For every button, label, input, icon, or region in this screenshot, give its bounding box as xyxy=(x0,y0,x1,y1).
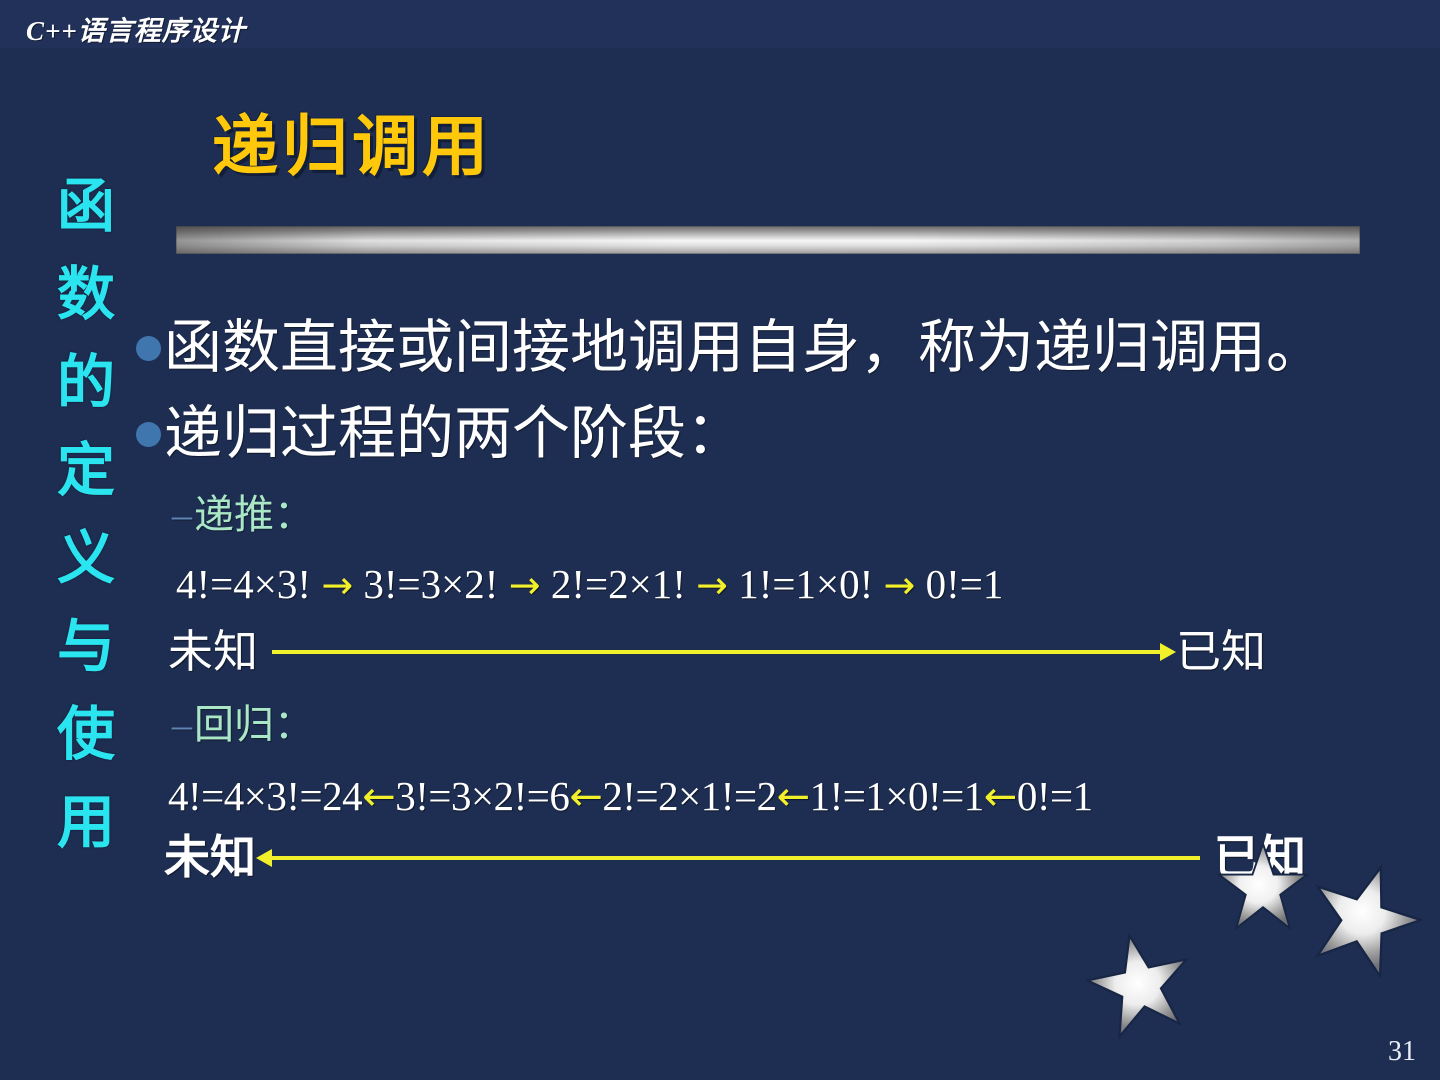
dash-icon: – xyxy=(172,492,192,537)
arrow-line-left-icon xyxy=(270,856,1200,860)
sub-bullet-recurse: –递推： xyxy=(172,492,314,538)
arrow-row-right-label: 已知 xyxy=(1176,626,1266,678)
sub-bullet-recurse-label: 递推： xyxy=(194,492,314,537)
arrow-row-right-label: 已知 xyxy=(1214,832,1306,884)
sidebar-char-7: 用 xyxy=(38,778,134,866)
arrow-row-left-label: 未知 xyxy=(164,832,256,884)
arrow-row-left-label: 未知 xyxy=(168,626,258,678)
formula-seg: 1!=1×0!=1 xyxy=(810,773,984,819)
arrow-left-icon: ← xyxy=(777,774,810,820)
arrow-left-icon: ← xyxy=(569,774,602,820)
arrow-left-icon: ← xyxy=(984,774,1017,820)
bullet-label-1: 函数直接或间接地调用自身，称为递归调用。 xyxy=(164,314,1324,382)
arrow-head-left-icon xyxy=(256,849,272,867)
formula-seg: 1!=1×0! xyxy=(738,561,873,607)
arrow-right-icon: → xyxy=(696,563,728,607)
formula-seg: 3!=3×2! xyxy=(363,561,498,607)
slide-title: 递归调用 xyxy=(212,108,492,186)
sidebar-char-6: 使 xyxy=(38,690,134,778)
arrow-right-icon: → xyxy=(321,563,353,607)
page-number: 31 xyxy=(1388,1036,1416,1068)
sidebar-vertical-label: 函 数 的 定 义 与 使 用 xyxy=(38,162,134,866)
slide-root: C++语言程序设计 函 数 的 定 义 与 使 用 递归调用 函数直接或间接地调… xyxy=(0,0,1440,1080)
sidebar-char-0: 函 xyxy=(38,162,134,250)
sidebar-char-2: 的 xyxy=(38,338,134,426)
sub-bullet-return: –回归： xyxy=(172,702,314,748)
course-title: C++语言程序设计 xyxy=(26,9,246,48)
formula-return: 4!=4×3!=24←3!=3×2!=6←2!=2×1!=2←1!=1×0!=1… xyxy=(168,772,1093,821)
sidebar-char-3: 定 xyxy=(38,426,134,514)
bullet-item-1: 函数直接或间接地调用自身，称为递归调用。 xyxy=(136,314,1324,382)
arrow-right-icon: → xyxy=(884,563,916,607)
arrow-row-backward: 未知 已知 xyxy=(164,832,1306,884)
arrow-right-icon: → xyxy=(509,563,541,607)
bullet-item-2: 递归过程的两个阶段： xyxy=(136,400,744,468)
formula-recurse: 4!=4×3! → 3!=3×2! → 2!=2×1! → 1!=1×0! → … xyxy=(176,560,1003,609)
sub-bullet-return-label: 回归： xyxy=(194,702,314,747)
formula-seg: 0!=1 xyxy=(1017,773,1093,819)
formula-seg: 3!=3×2!=6 xyxy=(395,773,569,819)
formula-seg: 4!=4×3!=24 xyxy=(168,773,362,819)
formula-seg: 4!=4×3! xyxy=(176,561,311,607)
arrow-line-right-icon xyxy=(272,650,1162,654)
dash-icon: – xyxy=(172,702,192,747)
title-divider-bar xyxy=(176,226,1360,254)
arrow-left-icon: ← xyxy=(362,774,395,820)
formula-seg: 2!=2×1!=2 xyxy=(602,773,776,819)
sidebar-char-4: 义 xyxy=(38,514,134,602)
sidebar-char-5: 与 xyxy=(38,602,134,690)
star-icon xyxy=(1305,860,1423,978)
star-icon xyxy=(1085,930,1195,1040)
arrow-row-forward: 未知 已知 xyxy=(168,626,1266,678)
bullet-label-2: 递归过程的两个阶段： xyxy=(164,400,744,468)
bullet-dot-icon xyxy=(136,336,161,361)
sidebar-char-1: 数 xyxy=(38,250,134,338)
arrow-head-right-icon xyxy=(1160,643,1176,661)
formula-seg: 0!=1 xyxy=(926,561,1004,607)
bullet-dot-icon xyxy=(136,422,161,447)
formula-seg: 2!=2×1! xyxy=(551,561,686,607)
